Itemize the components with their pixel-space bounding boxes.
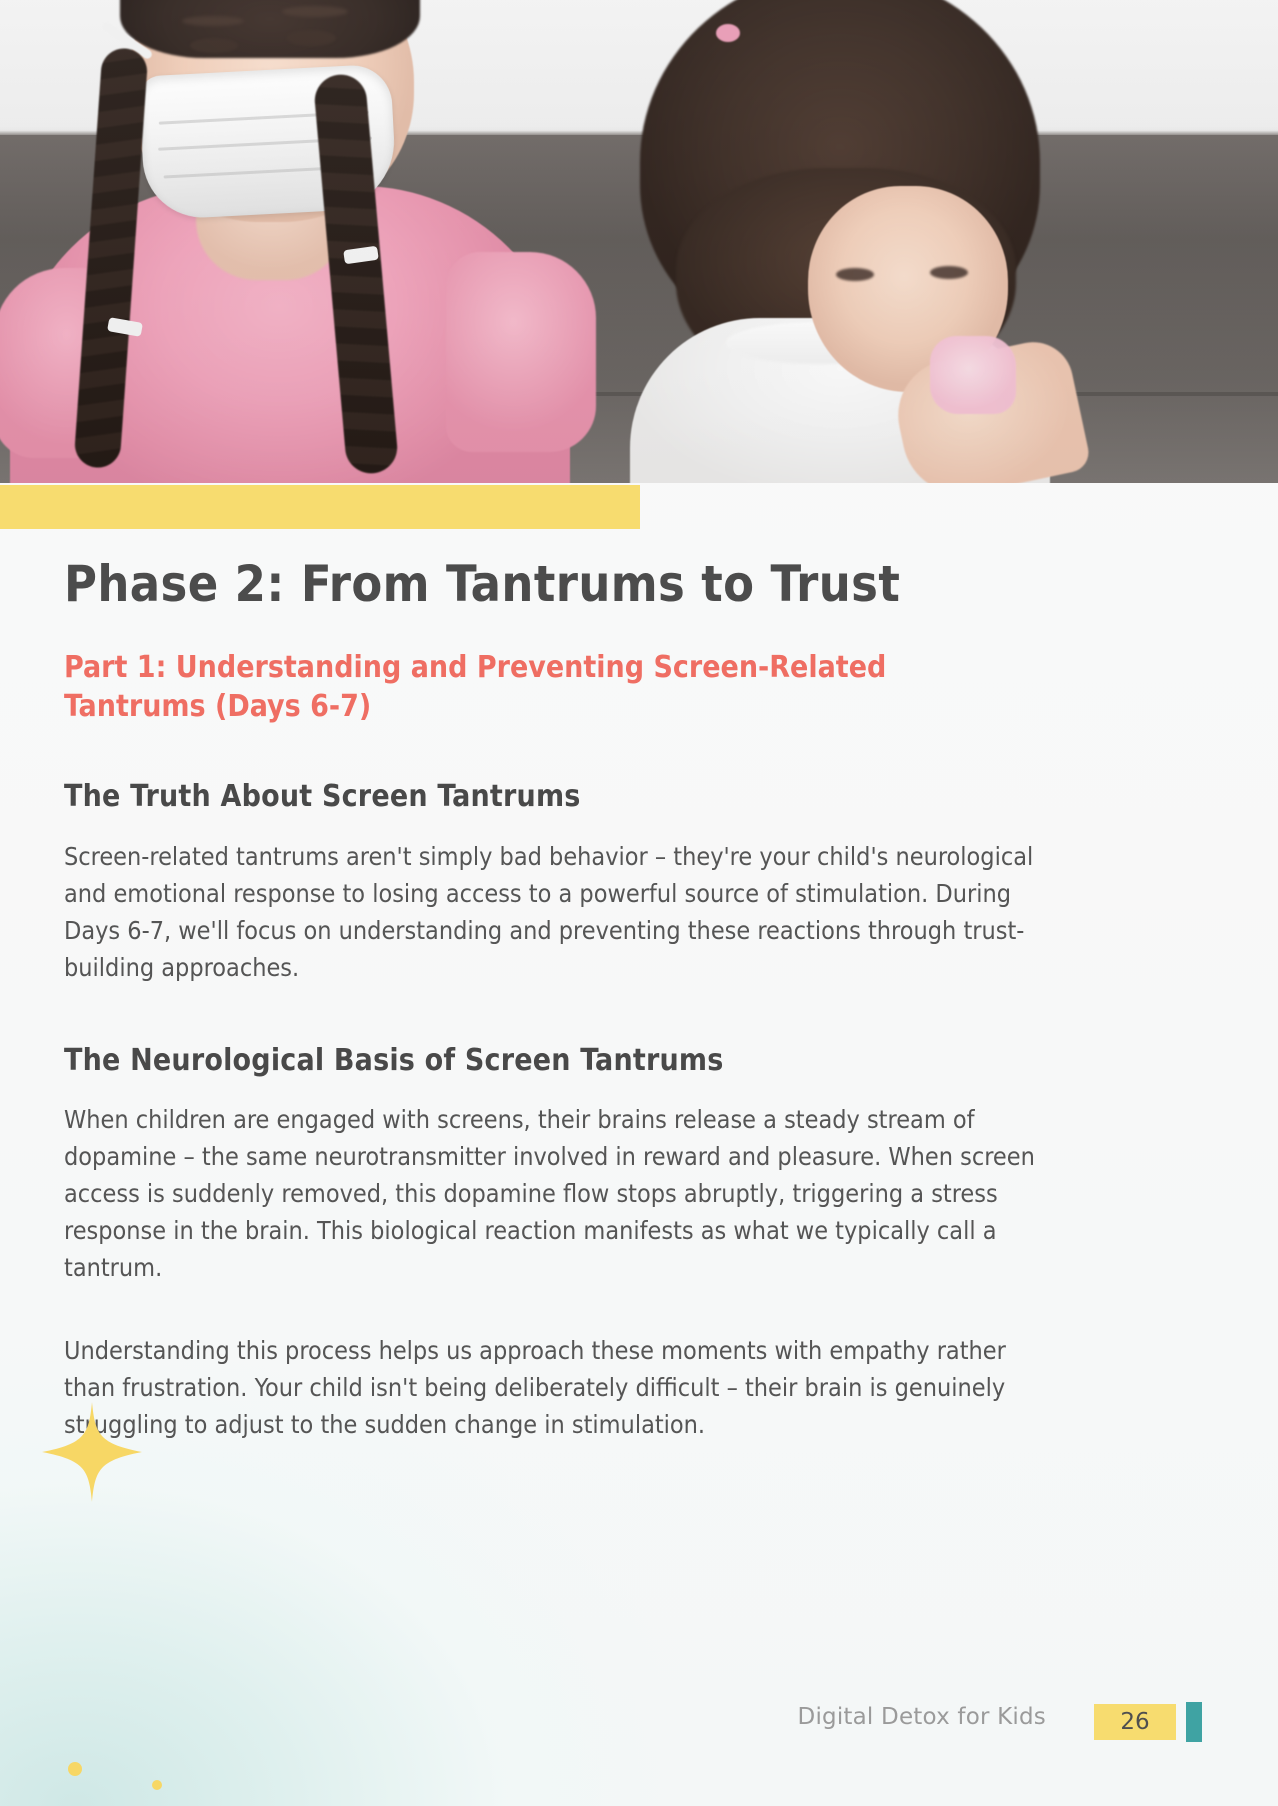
section-heading-neurological-basis: The Neurological Basis of Screen Tantrum… <box>64 1042 1074 1080</box>
page-number-badge: 26 <box>1094 1704 1176 1740</box>
sparkle-star-icon <box>40 1400 144 1504</box>
hero-photo <box>0 0 1278 483</box>
footer-book-title: Digital Detox for Kids <box>798 1704 1046 1730</box>
decorative-dot-icon <box>152 1780 162 1790</box>
decorative-dot-icon <box>68 1762 82 1776</box>
paragraph-spacer <box>64 1314 1074 1332</box>
document-page: Phase 2: From Tantrums to Trust Part 1: … <box>0 0 1278 1806</box>
page-footer: Digital Detox for Kids <box>0 1694 1278 1746</box>
section-paragraph: Screen-related tantrums aren't simply ba… <box>64 838 1054 986</box>
section-heading-truth-about-screen-tantrums: The Truth About Screen Tantrums <box>64 778 1074 816</box>
hero-overlay <box>0 0 1278 483</box>
page-title: Phase 2: From Tantrums to Trust <box>64 556 1074 612</box>
yellow-accent-bar <box>0 485 640 529</box>
part-subtitle: Part 1: Understanding and Preventing Scr… <box>64 648 944 726</box>
section-spacer <box>64 1020 1074 1042</box>
section-paragraph: When children are engaged with screens, … <box>64 1101 1054 1286</box>
section-paragraph: Understanding this process helps us appr… <box>64 1332 1054 1443</box>
page-content: Phase 2: From Tantrums to Trust Part 1: … <box>64 556 1074 1477</box>
teal-accent-bar <box>1186 1702 1202 1742</box>
